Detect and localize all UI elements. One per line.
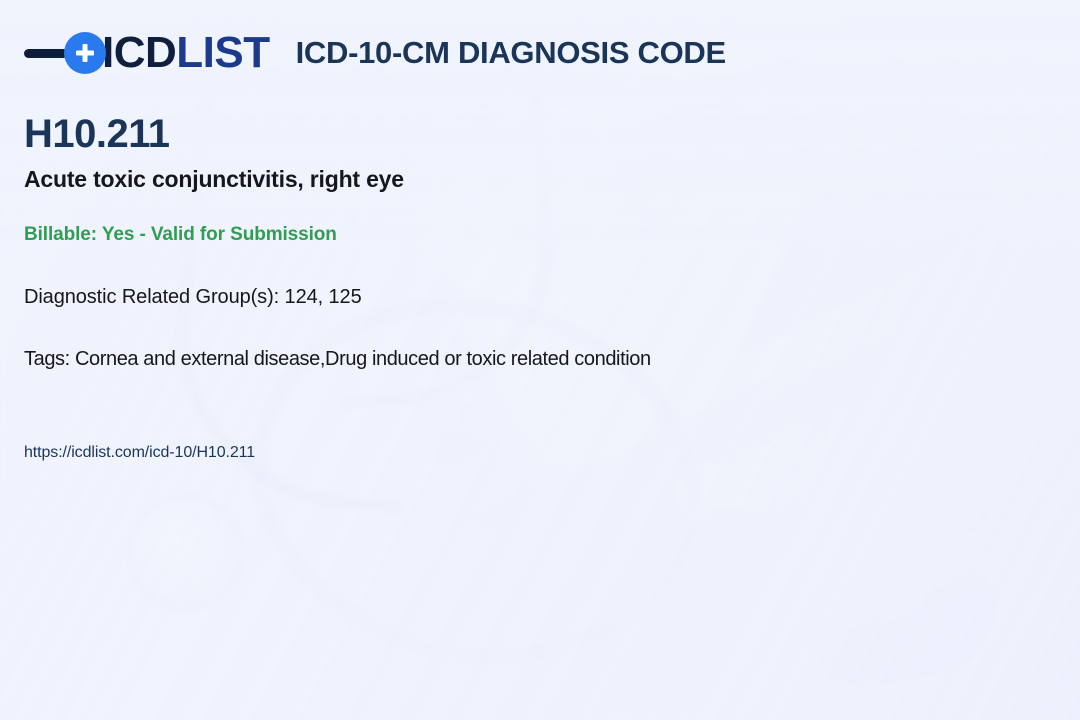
stethoscope-chestpiece	[128, 495, 244, 611]
glove-finger-1	[763, 417, 879, 554]
logo-text-icd: ICD	[102, 28, 176, 78]
icdlist-logo[interactable]: ICD LIST	[24, 28, 270, 78]
tags-list: Tags: Cornea and external disease,Drug i…	[24, 348, 651, 371]
stethoscope-eartip-b	[448, 450, 522, 535]
page-title: ICD-10-CM DIAGNOSIS CODE	[296, 35, 726, 71]
gloved-hand-palm	[783, 455, 1007, 695]
glove-finger-4	[936, 428, 995, 536]
diagnosis-code: H10.211	[24, 112, 170, 157]
logo-text-list: LIST	[176, 28, 269, 78]
stethoscope-coil	[217, 257, 734, 705]
plus-circle-icon	[64, 32, 106, 74]
paper-heart-shape	[666, 441, 821, 596]
diagnosis-description: Acute toxic conjunctivitis, right eye	[24, 166, 404, 193]
icd-code-card: ICD LIST ICD-10-CM DIAGNOSIS CODE H10.21…	[0, 0, 1080, 720]
mask-pleat-3	[455, 0, 919, 162]
diagnostic-related-groups: Diagnostic Related Group(s): 124, 125	[24, 286, 362, 309]
permalink-url[interactable]: https://icdlist.com/icd-10/H10.211	[24, 444, 255, 462]
stethoscope-eartip-a	[417, 371, 512, 476]
mask-ear-loop-shape	[374, 46, 631, 328]
header: ICD LIST ICD-10-CM DIAGNOSIS CODE	[24, 26, 726, 80]
glove-finger-3	[886, 405, 956, 541]
dash-icon	[24, 49, 68, 58]
stethoscope-chestpiece-inner	[150, 520, 212, 582]
glove-finger-2	[824, 400, 917, 540]
billable-status: Billable: Yes - Valid for Submission	[24, 224, 337, 246]
